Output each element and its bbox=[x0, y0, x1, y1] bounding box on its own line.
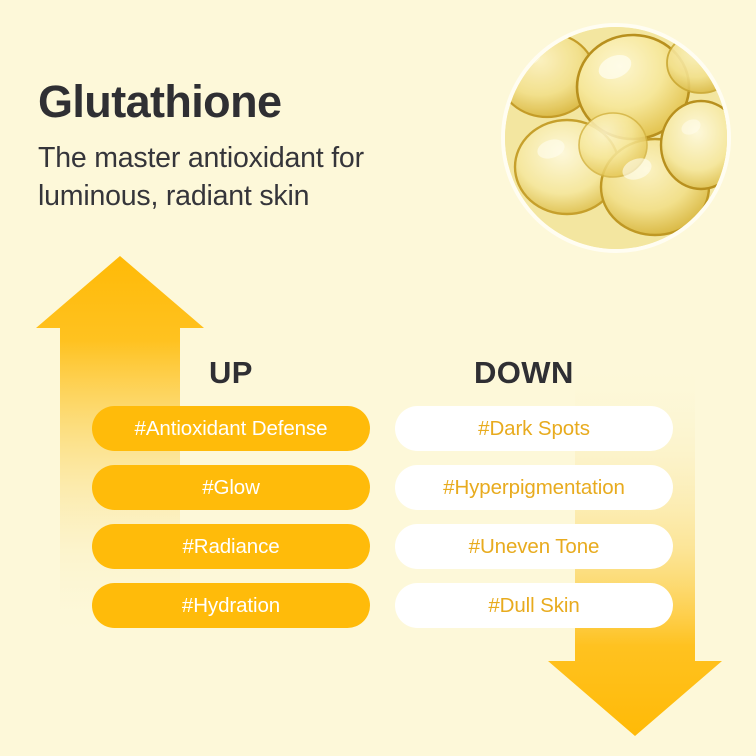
list-item[interactable]: #Radiance bbox=[92, 524, 370, 569]
list-item[interactable]: #Antioxidant Defense bbox=[92, 406, 370, 451]
column-heading-down: DOWN bbox=[474, 355, 574, 391]
list-item[interactable]: #Dull Skin bbox=[395, 583, 673, 628]
list-item[interactable]: #Dark Spots bbox=[395, 406, 673, 451]
down-pill-list: #Dark Spots #Hyperpigmentation #Uneven T… bbox=[395, 406, 673, 628]
list-item[interactable]: #Uneven Tone bbox=[395, 524, 673, 569]
up-pill-list: #Antioxidant Defense #Glow #Radiance #Hy… bbox=[92, 406, 370, 628]
list-item[interactable]: #Glow bbox=[92, 465, 370, 510]
infographic-poster: Glutathione The master antioxidant for l… bbox=[0, 0, 756, 756]
list-item[interactable]: #Hydration bbox=[92, 583, 370, 628]
list-item[interactable]: #Hyperpigmentation bbox=[395, 465, 673, 510]
page-title: Glutathione bbox=[38, 78, 281, 125]
column-heading-up: UP bbox=[209, 355, 253, 391]
oil-capsules-image bbox=[505, 27, 727, 249]
oil-capsules-icon bbox=[505, 27, 727, 249]
page-subtitle: The master antioxidant for luminous, rad… bbox=[38, 140, 468, 215]
